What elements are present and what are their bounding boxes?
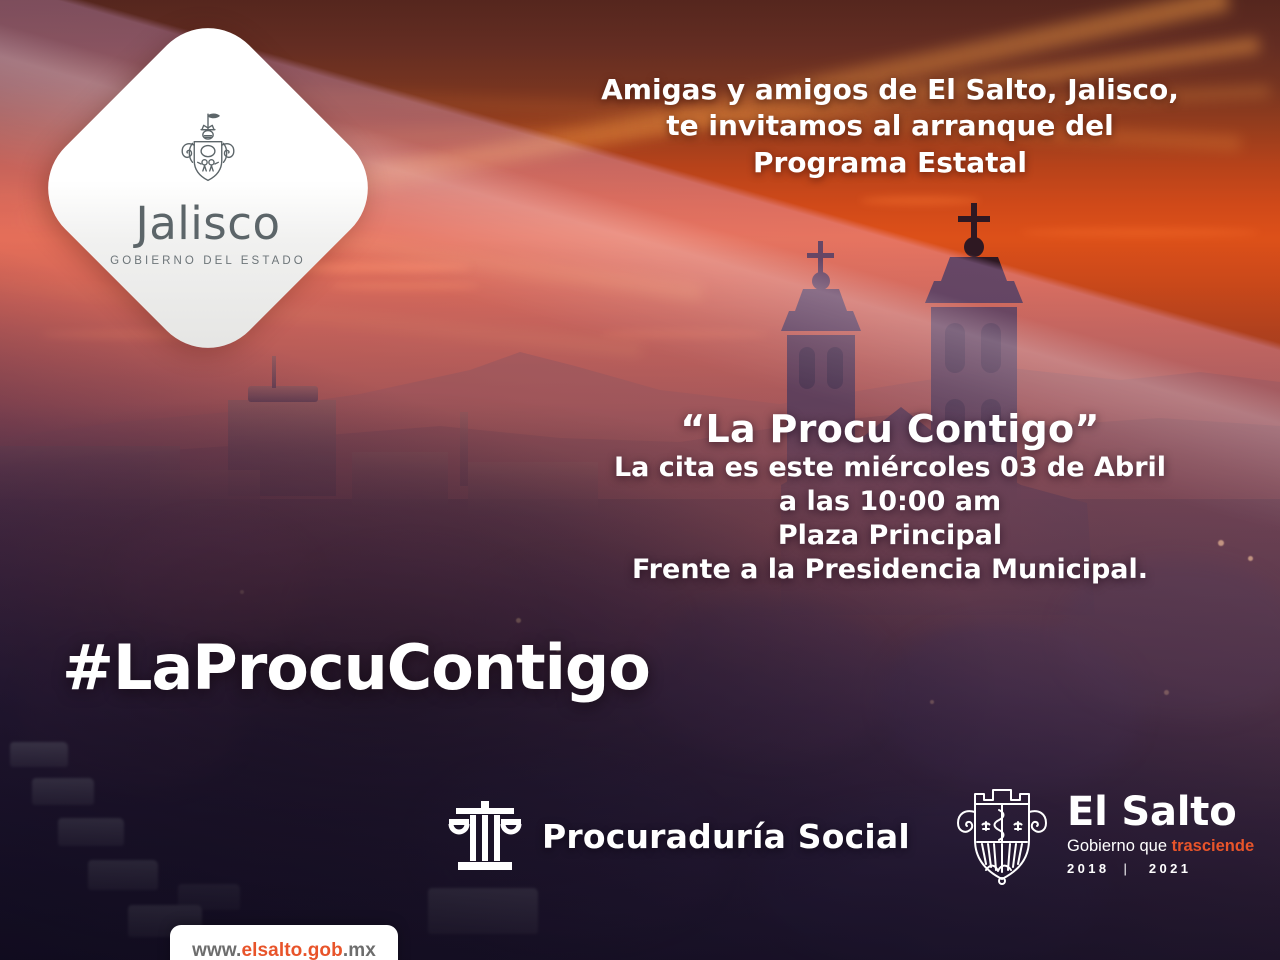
procuraduria-social-logo: Procuraduría Social	[446, 795, 910, 877]
url-prefix: www.	[192, 940, 241, 960]
term-year-separator: |	[1124, 861, 1127, 876]
el-salto-logo: El Salto Gobierno que trasciende 2018 | …	[953, 782, 1254, 886]
el-salto-term-years: 2018 | 2021	[1067, 861, 1254, 876]
website-url: www.elsalto.gob.mx	[192, 940, 376, 960]
procuraduria-social-label: Procuraduría Social	[542, 817, 910, 856]
term-year-end: 2021	[1149, 861, 1192, 876]
el-salto-tagline: Gobierno que trasciende	[1067, 838, 1254, 855]
tagline-prefix: Gobierno que	[1067, 837, 1172, 855]
campaign-hashtag: #LaProcuContigo	[62, 637, 650, 699]
el-salto-shield-crest-icon	[953, 782, 1051, 886]
url-domain: elsalto.gob	[241, 940, 342, 960]
el-salto-name: El Salto	[1067, 792, 1254, 832]
event-venue-note-line: Frente a la Presidencia Municipal.	[540, 553, 1240, 587]
tagline-highlight: trasciende	[1172, 837, 1255, 855]
headline-line-1: Amigas y amigos de El Salto, Jalisco,	[540, 72, 1240, 108]
jalisco-logo-subtitle: GOBIERNO DEL ESTADO	[110, 255, 306, 267]
event-time-line: a las 10:00 am	[540, 485, 1240, 519]
jalisco-logo-name: Jalisco	[135, 201, 280, 246]
headline-block: Amigas y amigos de El Salto, Jalisco, te…	[540, 72, 1240, 181]
term-year-start: 2018	[1067, 861, 1110, 876]
program-title: “La Procu Contigo”	[540, 408, 1240, 451]
jalisco-coat-of-arms-icon	[165, 109, 251, 195]
jalisco-logo: Jalisco GOBIERNO DEL ESTADO	[78, 58, 338, 318]
event-venue-line: Plaza Principal	[540, 519, 1240, 553]
headline-line-3: Programa Estatal	[540, 145, 1240, 181]
website-url-pill[interactable]: www.elsalto.gob.mx	[170, 925, 398, 960]
program-block: “La Procu Contigo” La cita es este miérc…	[540, 408, 1240, 588]
promo-poster: Jalisco GOBIERNO DEL ESTADO Amigas y ami…	[0, 0, 1280, 960]
url-suffix: .mx	[343, 940, 376, 960]
poster-content: Jalisco GOBIERNO DEL ESTADO Amigas y ami…	[0, 0, 1280, 960]
event-date-line: La cita es este miércoles 03 de Abril	[540, 451, 1240, 485]
scales-of-justice-column-icon	[446, 795, 524, 877]
headline-line-2: te invitamos al arranque del	[540, 108, 1240, 144]
